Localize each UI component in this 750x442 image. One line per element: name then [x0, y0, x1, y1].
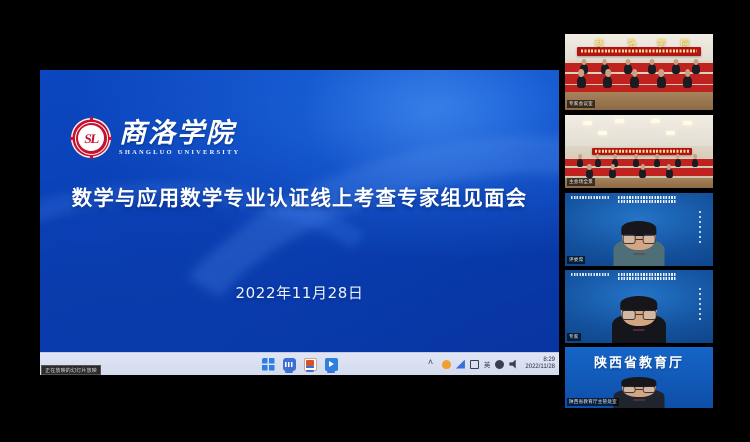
taskbar-clock[interactable]: 8:29 2022/11/28 — [525, 357, 555, 371]
powerpoint-icon[interactable] — [304, 358, 317, 371]
shared-screen-area: SL 商洛学院 SHANGLUO UNIVERSITY 数学与应用数学专业认证线… — [0, 0, 561, 442]
screen-recording-frame: SL 商洛学院 SHANGLUO UNIVERSITY 数学与应用数学专业认证线… — [0, 0, 750, 442]
clock-time: 8:29 — [543, 357, 555, 364]
network-icon[interactable] — [456, 360, 465, 369]
participant-video-portrait — [565, 270, 713, 343]
presentation-slide: SL 商洛学院 SHANGLUO UNIVERSITY 数学与应用数学专业认证线… — [40, 70, 559, 352]
participant-label: 主会场全景 — [567, 178, 595, 186]
participant-label: 专家 — [567, 333, 581, 341]
participant-tile-3[interactable]: 评委席 — [565, 193, 713, 266]
volume-icon[interactable] — [509, 360, 518, 369]
participant-label: 评委席 — [567, 256, 585, 264]
speaker-figure — [622, 222, 656, 266]
participant-tile-4[interactable]: 专家 — [565, 270, 713, 343]
windows-taskbar[interactable]: 正在放映的幻灯片放映 英 8:29 2022/11/28 — [40, 352, 559, 375]
participant-video-portrait — [565, 193, 713, 266]
overlay-text-right — [618, 273, 677, 280]
ime-indicator[interactable]: 英 — [484, 359, 491, 369]
overlay-text-left — [571, 196, 609, 199]
participant-label: 专家会议室 — [567, 100, 595, 108]
settings-icon[interactable] — [495, 360, 504, 369]
participant-tile-1[interactable]: 商 洛 学 院 专家会议室 — [565, 34, 713, 110]
slide-title: 数学与应用数学专业认证线上考查专家组见面会 — [40, 181, 559, 211]
university-name-en: SHANGLUO UNIVERSITY — [119, 150, 240, 157]
gov-banner-title: 陕西省教育厅 — [565, 352, 713, 371]
overlay-text-right — [618, 196, 677, 203]
conference-hall-view: 商 洛 学 院 — [565, 34, 713, 110]
display-icon[interactable] — [470, 360, 479, 369]
university-name-cn: 商洛学院 — [119, 120, 240, 147]
taskbar-app-icons[interactable] — [262, 358, 338, 371]
overlay-text-side — [699, 211, 702, 243]
university-seal-icon: SL — [71, 118, 111, 158]
seal-monogram: SL — [79, 128, 103, 149]
university-logo: SL 商洛学院 SHANGLUO UNIVERSITY — [71, 118, 240, 158]
clock-date: 2022/11/28 — [525, 364, 555, 371]
participant-tile-5[interactable]: 陕西省教育厅 陕西省教育厅主管处室 — [565, 347, 713, 408]
cloud-sync-icon[interactable] — [442, 360, 451, 369]
taskbar-window-thumbnail[interactable]: 正在放映的幻灯片放映 — [41, 365, 101, 375]
overlay-text-side — [699, 288, 702, 320]
participant-tile-2[interactable]: 主会场全景 — [565, 115, 713, 188]
overlay-text-left — [571, 273, 609, 276]
start-button[interactable] — [262, 358, 275, 371]
slide-background — [40, 70, 559, 352]
slide-date: 2022年11月28日 — [40, 282, 559, 303]
meeting-app-icon[interactable] — [325, 358, 338, 371]
participant-video-strip[interactable]: 商 洛 学 院 专家会议室 — [561, 0, 750, 442]
participant-label: 陕西省教育厅主管处室 — [567, 398, 619, 406]
teams-icon[interactable] — [283, 358, 296, 371]
speaker-figure — [622, 378, 656, 408]
show-hidden-icons-icon[interactable] — [428, 360, 437, 369]
system-tray[interactable]: 英 8:29 2022/11/28 — [428, 357, 555, 371]
speaker-figure — [621, 297, 657, 343]
